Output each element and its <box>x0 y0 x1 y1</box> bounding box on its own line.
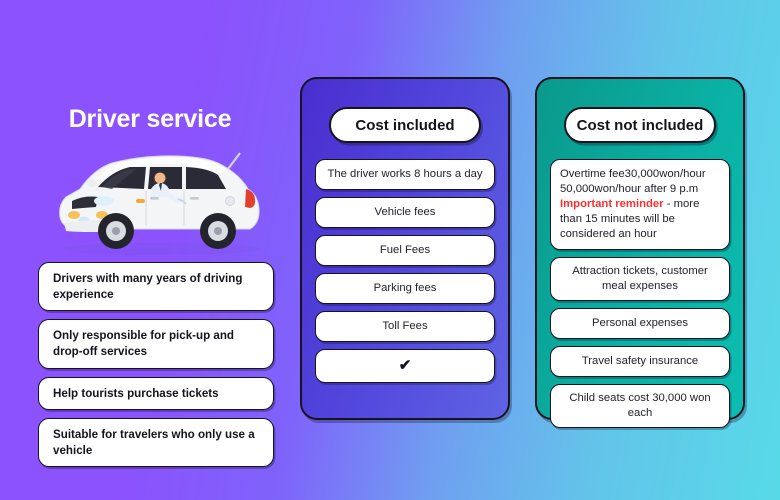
checkmark-item: ✔ <box>315 349 495 383</box>
page-title: Driver service <box>0 105 300 134</box>
list-item: Attraction tickets, customer meal expens… <box>550 257 730 301</box>
cost-included-item-list: The driver works 8 hours a day Vehicle f… <box>315 159 495 383</box>
list-item: Personal expenses <box>550 308 730 339</box>
list-item: Vehicle fees <box>315 197 495 228</box>
overtime-line-1: Overtime fee30,000won/hour <box>560 168 706 180</box>
list-item: Toll Fees <box>315 311 495 342</box>
check-icon: ✔ <box>399 356 412 376</box>
list-item: Parking fees <box>315 273 495 304</box>
list-item: Child seats cost 30,000 won each <box>550 384 730 428</box>
important-reminder-text: Important reminder <box>560 198 664 210</box>
minivan-illustration <box>50 145 275 260</box>
cost-included-card: Cost included The driver works 8 hours a… <box>300 77 510 420</box>
overtime-line-2: 50,000won/hour after 9 p.m <box>560 183 698 195</box>
cost-not-included-heading: Cost not included <box>564 107 716 143</box>
list-item: Travel safety insurance <box>550 346 730 377</box>
overtime-fee-item: Overtime fee30,000won/hour 50,000won/hou… <box>550 159 730 250</box>
front-wheel <box>98 213 134 249</box>
list-item: Drivers with many years of driving exper… <box>38 262 274 311</box>
list-item: Fuel Fees <box>315 235 495 266</box>
rear-wheel <box>200 213 236 249</box>
list-item: Suitable for travelers who only use a ve… <box>38 418 274 467</box>
list-item: Only responsible for pick-up and drop-of… <box>38 319 274 368</box>
list-item: The driver works 8 hours a day <box>315 159 495 190</box>
cost-not-included-item-list: Overtime fee30,000won/hour 50,000won/hou… <box>550 159 730 428</box>
cost-included-heading: Cost included <box>329 107 481 143</box>
list-item: Help tourists purchase tickets <box>38 377 274 411</box>
cost-not-included-card: Cost not included Overtime fee30,000won/… <box>535 77 745 420</box>
left-panel: Driver service <box>0 0 300 500</box>
feature-list: Drivers with many years of driving exper… <box>38 262 274 475</box>
